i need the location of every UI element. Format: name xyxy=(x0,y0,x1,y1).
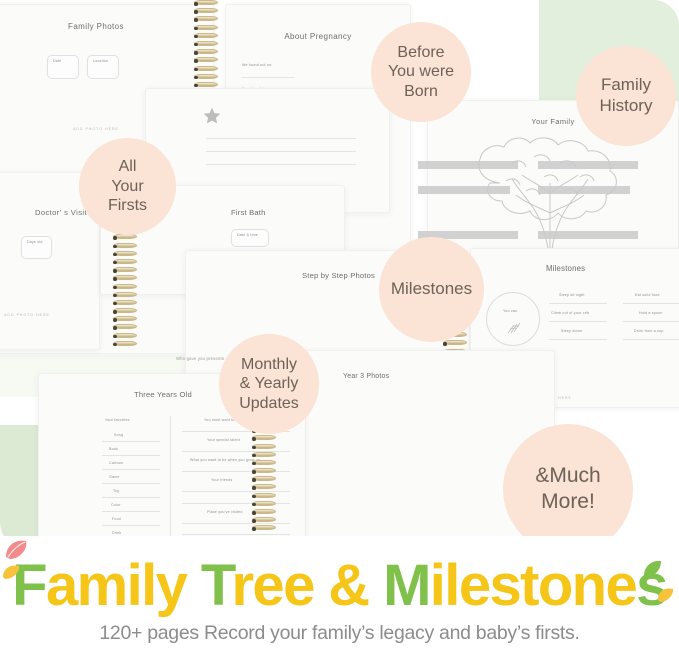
badge-line: &Much xyxy=(535,463,600,489)
headline-seg: M xyxy=(383,553,430,618)
field-label-location: Location xyxy=(93,59,108,63)
field-location: Location xyxy=(87,55,119,79)
subtitle: 120+ pages Record your family’s legacy a… xyxy=(0,622,679,645)
product-marketing-image: Family Photos Date Location ADD PHOTO HE… xyxy=(0,0,679,655)
favorites-divider-vertical xyxy=(170,416,171,536)
milestone-rule xyxy=(549,339,607,340)
favorite-item: Game xyxy=(109,475,120,479)
page-title-family-photos: Family Photos xyxy=(0,22,213,31)
badge-line: Monthly xyxy=(239,355,299,375)
badge-all-your-firsts: All Your Firsts xyxy=(79,138,176,235)
badge-line: Updates xyxy=(239,394,299,414)
field-label-date: Date xyxy=(53,59,61,63)
tree-name-banner xyxy=(418,186,510,194)
milestone-rule xyxy=(623,303,679,304)
tree-name-banner xyxy=(418,161,518,169)
field-label-days-old: Days old xyxy=(27,240,43,244)
page-title-first-bath: First Bath xyxy=(231,208,266,217)
milestone-item: Climb out of your crib xyxy=(551,311,589,315)
badge-line: All xyxy=(108,157,147,177)
favorite-item: Cartoon xyxy=(109,461,123,465)
scribble-icon xyxy=(505,317,525,337)
tree-name-banner xyxy=(538,186,630,194)
prompt-item: Your special talent xyxy=(207,438,240,442)
rule-2 xyxy=(206,151,356,152)
field-date-time: Date & time xyxy=(231,229,269,247)
badge-line: Milestones xyxy=(391,279,472,300)
headline-seg: ree xyxy=(231,553,328,618)
you-can-label: You can xyxy=(503,309,517,313)
confetti-green-sprout-icon xyxy=(640,556,664,580)
headline-seg: ilestone xyxy=(430,553,636,618)
badge-line: More! xyxy=(535,489,600,515)
you-can-circle: You can xyxy=(486,292,540,346)
spiral-binding-left xyxy=(113,218,139,349)
milestone-item: Sleep alone xyxy=(561,329,582,333)
badge-line: You were xyxy=(388,62,454,82)
favorite-rule xyxy=(102,497,160,498)
label-we-found-out: We found out on: xyxy=(242,63,273,67)
confetti-pink-leaf-icon xyxy=(4,539,30,561)
milestone-item: Hold a spoon xyxy=(639,311,663,315)
milestone-item: Eat solid food xyxy=(635,293,660,297)
rule-found-out xyxy=(242,77,294,78)
favorite-rule xyxy=(102,483,160,484)
headline: Family Tree & Milestones xyxy=(0,552,679,619)
field-date: Date xyxy=(47,55,79,79)
milestone-rule xyxy=(549,303,607,304)
milestone-rule xyxy=(549,321,607,322)
badge-family-history: Family History xyxy=(576,46,676,146)
milestone-rule xyxy=(623,339,679,340)
page-title-step-by-step: Step by Step Photos xyxy=(302,271,375,280)
confetti-yellow-dot-icon xyxy=(656,586,676,604)
field-label-date-time: Date & time xyxy=(237,233,258,237)
favorite-item: Toy xyxy=(113,489,119,493)
page-title-three-years-old: Three Years Old xyxy=(134,390,192,399)
rule-1 xyxy=(206,138,356,139)
favorite-item: Food xyxy=(112,517,121,521)
rule-3 xyxy=(206,164,356,165)
favorite-rule xyxy=(102,511,160,512)
tree-name-banner xyxy=(538,231,638,239)
badge-line: Firsts xyxy=(108,196,147,216)
favorite-item: Book xyxy=(109,447,118,451)
favorite-rule xyxy=(102,525,160,526)
favorites-header: Your favorites xyxy=(105,418,130,422)
badge-milestones: Milestones xyxy=(379,237,484,342)
favorite-rule xyxy=(102,455,160,456)
badge-line: History xyxy=(600,96,653,117)
favorite-rule xyxy=(102,469,160,470)
headline-seg: & xyxy=(328,553,383,618)
favorite-item: Color xyxy=(111,503,121,507)
favorite-item: Drink xyxy=(112,531,121,535)
headline-seg: F xyxy=(12,553,46,618)
headline-seg: T xyxy=(201,553,232,618)
milestone-item: Sleep all night xyxy=(559,293,585,297)
badge-line: Family xyxy=(600,75,653,96)
page-title-milestones-page: Milestones xyxy=(546,264,585,273)
add-photo-here-label-doctor: ADD PHOTO HERE xyxy=(0,313,99,317)
star-icon xyxy=(202,106,222,126)
prompt-item: Place you’ve visited xyxy=(207,510,243,514)
prompt-rule xyxy=(182,534,290,535)
badge-line: Your xyxy=(108,177,147,197)
page-title-who-gave: Who gave you presents xyxy=(176,356,224,361)
favorite-rule xyxy=(102,441,160,442)
badge-line: Born xyxy=(388,82,454,102)
prompt-item: Your friends xyxy=(211,478,232,482)
badge-monthly-yearly-updates: Monthly & Yearly Updates xyxy=(219,334,319,434)
field-days-old: Days old xyxy=(21,236,52,259)
page-title-year-three-photos: Year 3 Photos xyxy=(343,373,389,380)
badge-line: & Yearly xyxy=(239,374,299,394)
milestone-rule xyxy=(623,321,679,322)
tree-name-banner xyxy=(538,161,638,169)
badge-much-more: &Much More! xyxy=(503,424,633,554)
milestone-item: Drink from a cup xyxy=(634,329,664,333)
badge-line: Before xyxy=(388,43,454,63)
confetti-yellow-leaf-icon xyxy=(2,564,22,580)
favorite-item: Song xyxy=(114,433,123,437)
prompt-item: What you want to be when you grow up xyxy=(190,458,260,462)
headline-seg: amily xyxy=(46,553,201,618)
badge-before-you-were-born: Before You were Born xyxy=(371,22,471,122)
